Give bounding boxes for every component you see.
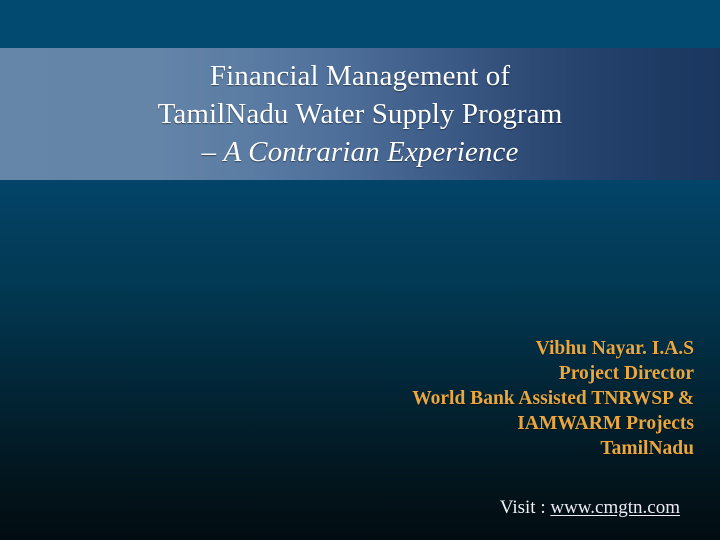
title-dash: –	[202, 136, 224, 168]
slide-title: Financial Management of TamilNadu Water …	[0, 48, 720, 180]
title-line-1: Financial Management of	[210, 57, 510, 95]
visit-label: Visit :	[500, 497, 551, 518]
author-location: TamilNadu	[264, 436, 694, 461]
author-organization-line-1: World Bank Assisted TNRWSP &	[264, 386, 694, 411]
author-designation: Project Director	[264, 361, 694, 386]
title-line-3: – A Contrarian Experience	[202, 133, 519, 171]
title-line-2: TamilNadu Water Supply Program	[158, 95, 563, 133]
author-credits-block: Vibhu Nayar. I.A.S Project Director Worl…	[264, 336, 694, 461]
website-link[interactable]: www.cmgtn.com	[550, 497, 680, 518]
title-subtitle-text: A Contrarian Experience	[224, 136, 519, 168]
top-accent-band	[0, 0, 720, 48]
presentation-slide: Financial Management of TamilNadu Water …	[0, 0, 720, 540]
visit-website-block: Visit : www.cmgtn.com	[500, 496, 680, 520]
author-name: Vibhu Nayar. I.A.S	[264, 336, 694, 361]
author-organization-line-2: IAMWARM Projects	[264, 411, 694, 436]
